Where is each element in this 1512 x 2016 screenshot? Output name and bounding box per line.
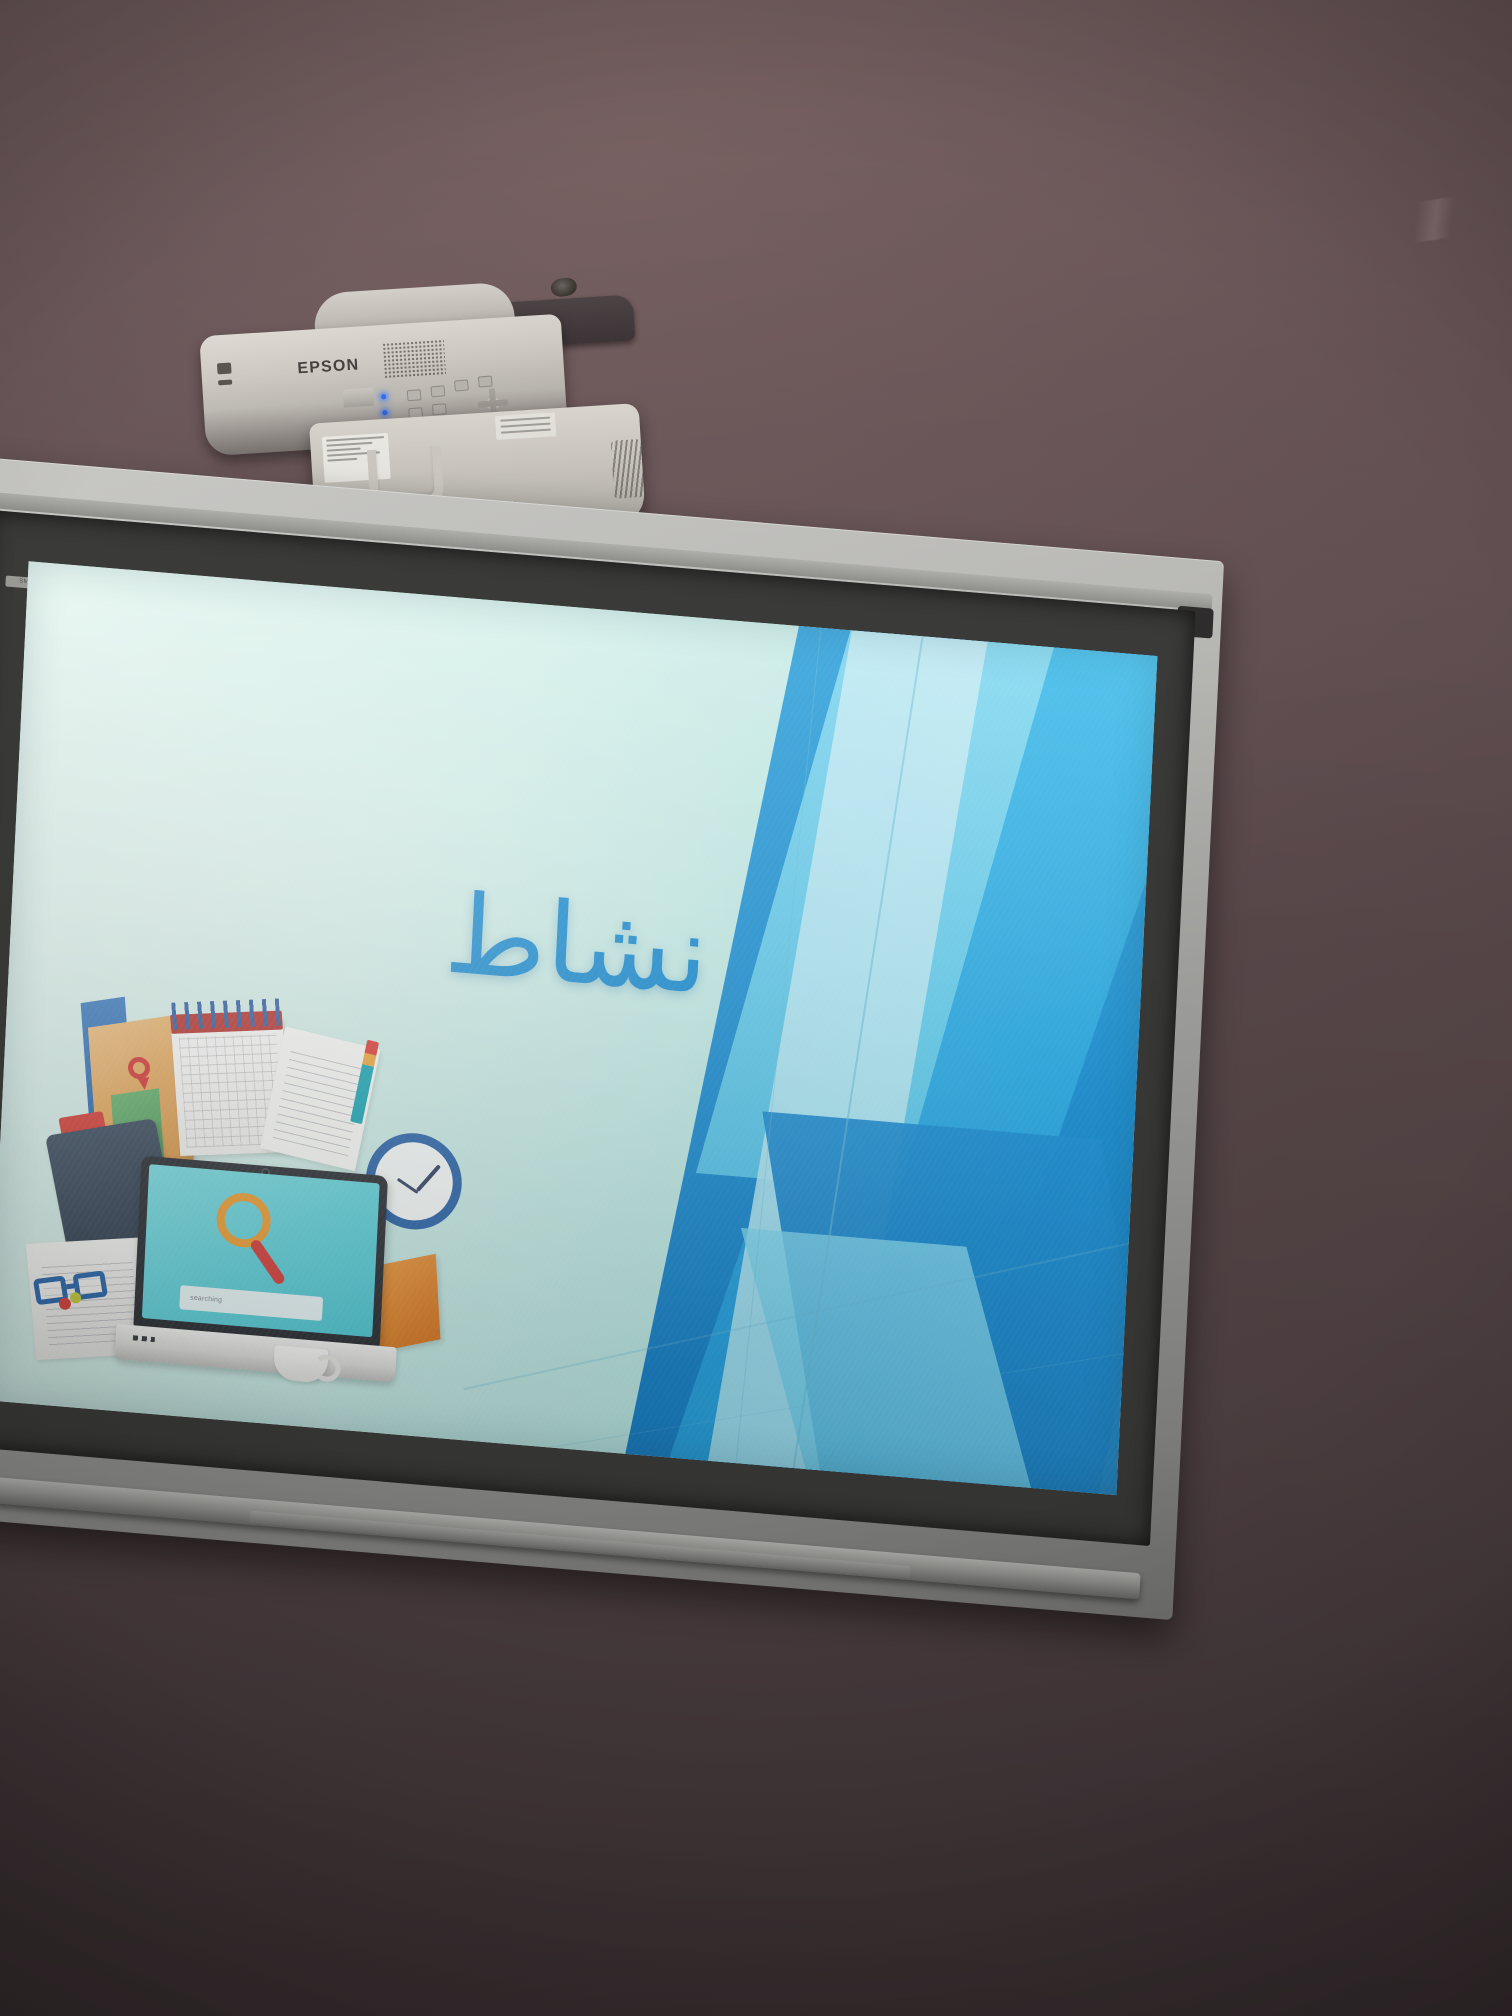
education-workspace-illustration: searching (34, 943, 428, 1419)
magnifying-glass-icon (215, 1191, 271, 1249)
red-dot-decoration (58, 1297, 72, 1310)
magnifying-glass-handle (249, 1238, 287, 1286)
slide-title-text: نشاط (442, 878, 711, 1010)
laptop-screen: searching (142, 1164, 379, 1337)
projected-slide[interactable]: نشاط (0, 561, 1157, 1495)
laptop-icon: searching (132, 1155, 388, 1380)
projector-vent-grille (382, 339, 446, 379)
projector-serial-label (495, 412, 556, 440)
classroom-photo-scene: EPSON EPSON (0, 0, 1512, 2016)
projector-button-power[interactable] (478, 375, 493, 387)
projector-brand-label: EPSON (297, 356, 360, 378)
projector-button-enter[interactable] (454, 379, 469, 391)
notebook-rings-icon (172, 999, 281, 1030)
laptop-ports-icon (133, 1335, 155, 1342)
interactive-whiteboard[interactable]: SMART نشاط (0, 456, 1224, 1620)
coffee-cup-icon (273, 1345, 329, 1383)
search-input[interactable]: searching (180, 1286, 324, 1321)
search-placeholder-text: searching (190, 1294, 222, 1304)
search-button-icon[interactable] (373, 1302, 380, 1328)
projector-side-vent (611, 439, 645, 499)
laptop-lid: searching (134, 1155, 388, 1347)
projector-port-icons (215, 362, 236, 407)
